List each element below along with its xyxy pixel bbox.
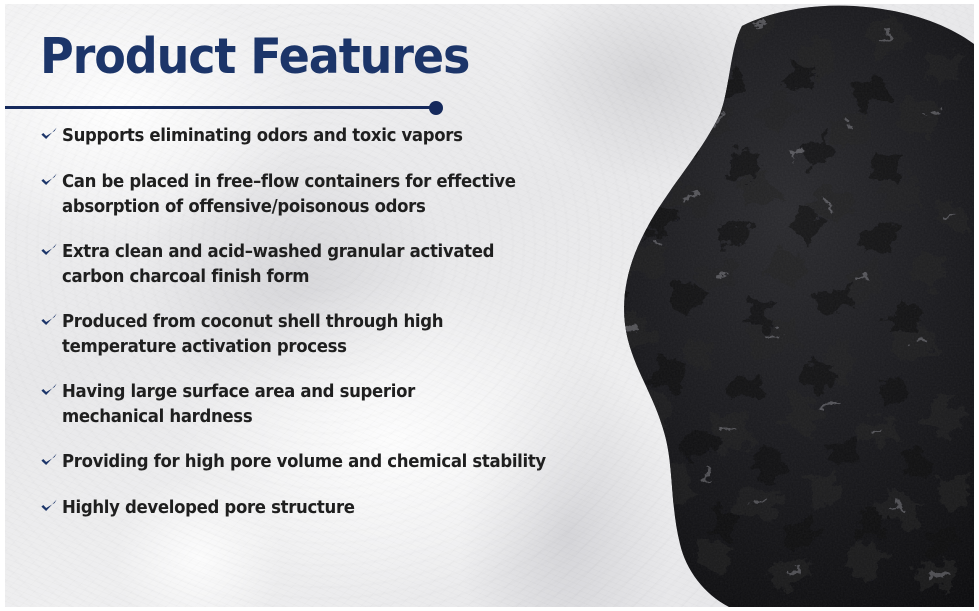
list-item: Highly developed pore structure [40, 496, 600, 522]
feature-text: Extra clean and acid–washed granular act… [62, 240, 494, 290]
rule-end-dot [429, 101, 443, 115]
check-icon [40, 498, 62, 522]
check-icon [40, 452, 62, 476]
feature-text: Having large surface area and superior m… [62, 380, 415, 430]
check-icon [40, 312, 62, 336]
list-item: Can be placed in free–flow containers fo… [40, 170, 600, 220]
title-underline-rule [5, 101, 443, 115]
feature-list: Supports eliminating odors and toxic vap… [40, 124, 600, 522]
product-features-banner: Product Features Supports eliminating od… [0, 0, 979, 611]
rule-line [5, 106, 437, 109]
list-item: Extra clean and acid–washed granular act… [40, 240, 600, 290]
list-item: Having large surface area and superior m… [40, 380, 600, 430]
check-icon [40, 172, 62, 196]
check-icon [40, 126, 62, 150]
feature-text: Can be placed in free–flow containers fo… [62, 170, 516, 220]
feature-text: Supports eliminating odors and toxic vap… [62, 124, 463, 149]
list-item: Providing for high pore volume and chemi… [40, 450, 600, 476]
feature-text: Providing for high pore volume and chemi… [62, 450, 546, 475]
check-icon [40, 382, 62, 406]
list-item: Supports eliminating odors and toxic vap… [40, 124, 600, 150]
check-icon [40, 242, 62, 266]
feature-text: Highly developed pore structure [62, 496, 355, 521]
title-block: Product Features [40, 28, 510, 86]
page-title: Product Features [40, 28, 482, 86]
list-item: Produced from coconut shell through high… [40, 310, 600, 360]
feature-text: Produced from coconut shell through high… [62, 310, 443, 360]
